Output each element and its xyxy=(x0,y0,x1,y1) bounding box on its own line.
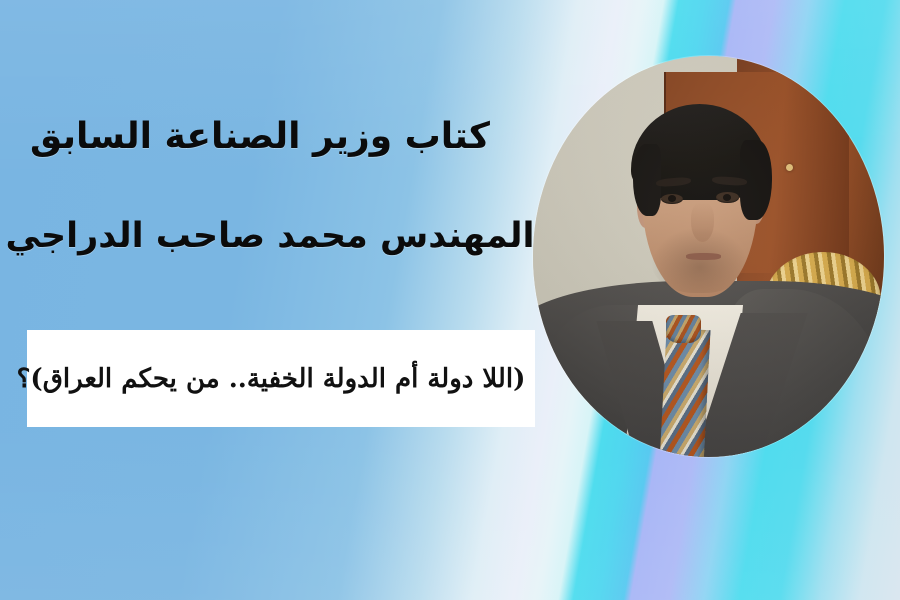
subtitle-text: (اللا دولة أم الدولة الخفية.. من يحكم ال… xyxy=(4,330,538,427)
promo-banner: كتاب وزير الصناعة السابق المهندس محمد صا… xyxy=(0,0,900,600)
headline-line-2: المهندس محمد صاحب الدراجي xyxy=(0,218,540,255)
photo-door-knob xyxy=(786,164,793,171)
photo-nose xyxy=(691,202,714,242)
photo-tie-knot xyxy=(666,315,701,343)
photo-pupil-right xyxy=(723,194,731,201)
photo-mouth xyxy=(686,253,721,260)
photo-pupil-left xyxy=(668,195,676,202)
headline-line-1: كتاب وزير الصناعة السابق xyxy=(0,118,540,156)
portrait-photo xyxy=(533,56,884,457)
portrait-circle xyxy=(533,56,884,457)
headline-block: كتاب وزير الصناعة السابق المهندس محمد صا… xyxy=(0,118,540,255)
photo-striped-tie xyxy=(659,328,710,457)
